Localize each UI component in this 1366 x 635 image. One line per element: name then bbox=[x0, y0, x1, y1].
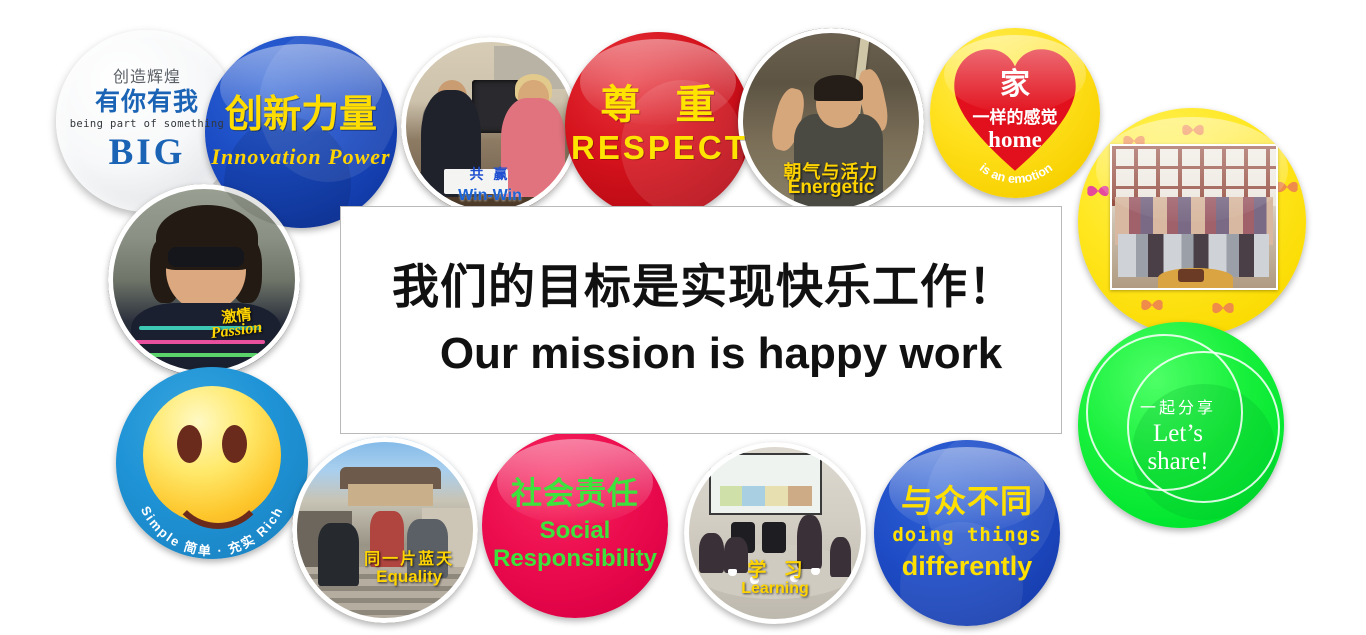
bubble-respect[interactable]: 尊 重 RESPECT bbox=[565, 32, 751, 218]
social-text-block: 社会责任 Social Responsibility bbox=[482, 477, 668, 572]
bubble-learning[interactable]: 学 习 Learning bbox=[684, 442, 866, 624]
winwin-en: Win-Win bbox=[401, 187, 579, 205]
flower-icon bbox=[1178, 115, 1208, 145]
learning-zh: 学 习 bbox=[684, 555, 866, 582]
simple-arc-text: Simple 简单 · 充实 Rich bbox=[138, 503, 286, 558]
mission-zh: 我们的目标是实现快乐工作！ bbox=[341, 262, 1061, 314]
big-line-1: 创造辉煌 bbox=[62, 69, 232, 87]
home-arc-wrap: is an emotion bbox=[930, 28, 1100, 198]
bubble-innovation-power[interactable]: 创新力量 Innovation Power bbox=[205, 36, 397, 228]
respect-en: RESPECT bbox=[571, 130, 745, 167]
different-text-block: 与众不同 doing things differently bbox=[874, 484, 1060, 581]
energetic-en: Energetic bbox=[738, 177, 924, 199]
mission-banner: 我们的目标是实现快乐工作！ Our mission is happy work bbox=[340, 206, 1062, 434]
bubble-win-win[interactable]: 共 赢 Win-Win bbox=[401, 37, 579, 215]
bubble-social-responsibility[interactable]: 社会责任 Social Responsibility bbox=[482, 432, 668, 618]
sunglasses-icon bbox=[168, 247, 245, 266]
chair bbox=[762, 522, 786, 553]
bubble-simple-rich[interactable]: Simple 简单 · 充实 Rich bbox=[116, 367, 308, 559]
projector-screen bbox=[709, 453, 822, 515]
mission-en: Our mission is happy work bbox=[341, 330, 1061, 378]
culture-values-collage: 创造辉煌 有你有我 being part of something BIG 创新… bbox=[0, 0, 1366, 635]
stripe bbox=[143, 353, 258, 357]
social-en-2: Responsibility bbox=[488, 546, 662, 573]
simple-arc-wrap: Simple 简单 · 充实 Rich bbox=[116, 367, 308, 559]
innovation-en: Innovation Power bbox=[211, 145, 391, 170]
bubble-lets-share[interactable]: 一起分享 Let’s share! bbox=[1078, 322, 1284, 528]
share-en-2: share! bbox=[1081, 448, 1275, 476]
different-zh: 与众不同 bbox=[880, 484, 1054, 520]
share-en-1: Let’s bbox=[1081, 420, 1275, 448]
share-zh: 一起分享 bbox=[1081, 400, 1275, 418]
bubble-family-photo[interactable] bbox=[1078, 108, 1306, 336]
chart-cells bbox=[720, 486, 811, 506]
hair bbox=[814, 75, 862, 101]
different-en-1: doing things bbox=[880, 525, 1054, 546]
bubble-equality[interactable]: 同一片蓝天 Equality bbox=[292, 437, 478, 623]
social-en-1: Social bbox=[488, 518, 662, 545]
share-text-block: 一起分享 Let’s share! bbox=[1078, 400, 1281, 476]
bubble-doing-things-differently[interactable]: 与众不同 doing things differently bbox=[874, 440, 1060, 626]
respect-text-block: 尊 重 RESPECT bbox=[565, 83, 751, 167]
home-arc-text: is an emotion bbox=[977, 161, 1055, 187]
equality-photo bbox=[292, 437, 478, 623]
bubble-energetic[interactable]: 朝气与活力 Energetic bbox=[738, 28, 924, 214]
learning-en: Learning bbox=[684, 580, 866, 598]
temple-body bbox=[348, 484, 434, 506]
social-zh: 社会责任 bbox=[488, 477, 662, 512]
innovation-text-block: 创新力量 Innovation Power bbox=[205, 94, 397, 169]
different-en-2: differently bbox=[880, 551, 1054, 581]
birthday-cake bbox=[1178, 269, 1204, 282]
bubble-home-is-an-emotion[interactable]: 家 一样的感觉 home is an emotion bbox=[930, 28, 1100, 198]
flower-icon bbox=[1208, 293, 1238, 323]
respect-zh: 尊 重 bbox=[571, 83, 745, 128]
innovation-zh: 创新力量 bbox=[211, 94, 391, 137]
winwin-zh: 共 赢 bbox=[401, 164, 579, 184]
equality-zh: 同一片蓝天 bbox=[344, 545, 474, 569]
equality-en: Equality bbox=[344, 567, 474, 587]
team-group-photo bbox=[1110, 144, 1278, 289]
flower-icon bbox=[1137, 290, 1167, 320]
